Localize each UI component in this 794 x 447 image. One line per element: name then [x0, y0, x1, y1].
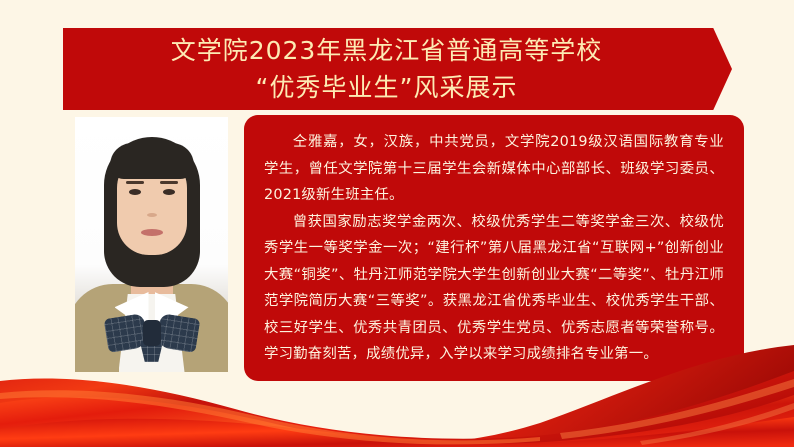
photo-eyebrow-right	[160, 181, 178, 184]
portrait-frame	[75, 117, 228, 372]
ribbon-highlight-1	[0, 390, 540, 444]
bio-paragraph-1: 仝雅嘉，女，汉族，中共党员，文学院2019级汉语国际教育专业学生，曾任文学院第十…	[264, 129, 724, 209]
photo-nose	[147, 213, 157, 217]
bio-paragraph-2: 曾获国家励志奖学金两次、校级优秀学生二等奖学金三次、校级优秀学生一等奖学金一次；…	[264, 209, 724, 368]
title-banner: 文学院2023年黑龙江省普通高等学校 “优秀毕业生”风采展示	[63, 28, 732, 110]
photo-bow-tie	[106, 314, 198, 360]
ribbon-band-left	[0, 371, 794, 447]
bow-knot	[143, 320, 161, 346]
bio-text-panel: 仝雅嘉，女，汉族，中共党员，文学院2019级汉语国际教育专业学生，曾任文学院第十…	[244, 115, 744, 381]
photo-eye-left	[129, 189, 141, 195]
ribbon-highlight-3	[640, 403, 794, 445]
photo-mouth	[141, 229, 163, 236]
ribbon-band-mid	[0, 395, 794, 447]
photo-eyebrow-left	[126, 181, 144, 184]
graduate-portrait-photo	[75, 117, 228, 372]
ribbon-band-front	[0, 417, 794, 447]
banner-title-line-2: “优秀毕业生”风采展示	[256, 69, 518, 106]
ribbon-highlight-2	[560, 379, 794, 439]
poster-canvas: 文学院2023年黑龙江省普通高等学校 “优秀毕业生”风采展示	[0, 0, 794, 447]
photo-hair-fringe	[110, 143, 194, 179]
photo-eye-right	[163, 189, 175, 195]
banner-title-line-1: 文学院2023年黑龙江省普通高等学校	[171, 32, 603, 69]
